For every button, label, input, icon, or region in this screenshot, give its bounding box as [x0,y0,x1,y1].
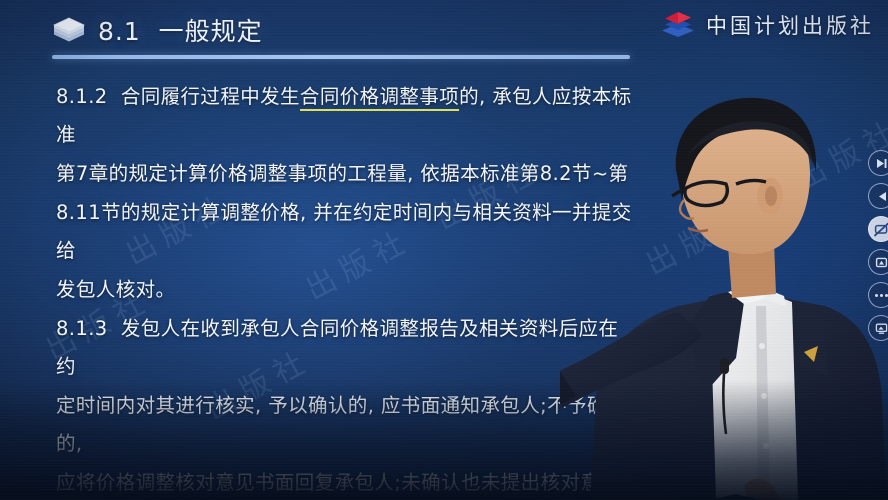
bottom-fade-overlay [0,380,888,500]
video-player-stage: 出版社出版社出版社出版社出版社出版社出版社 8.1 一般规定 [0,0,888,500]
